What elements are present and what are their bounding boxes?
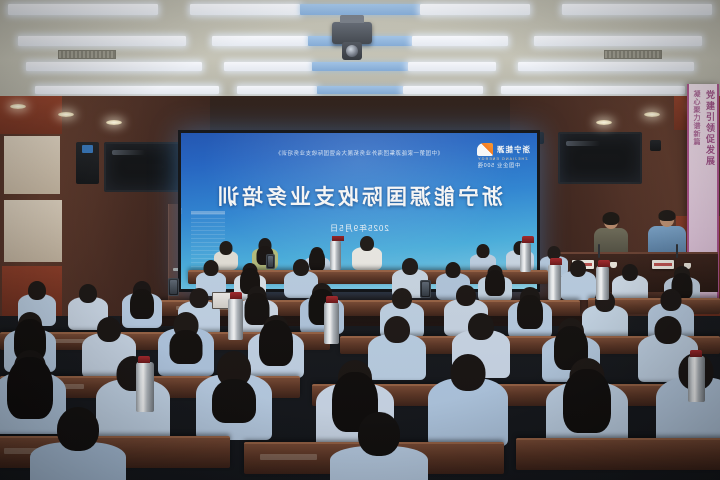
long-hair (7, 357, 53, 419)
long-hair (485, 270, 505, 296)
banner-column-1: 党建引领促发展 (704, 90, 716, 167)
head (57, 407, 99, 451)
ceiling-light-row (8, 4, 712, 15)
logo-chinese-name: 浙宁能源 (496, 144, 530, 155)
smartphone[interactable] (420, 280, 431, 298)
light-fixture (420, 4, 530, 15)
head (360, 236, 374, 251)
wall-speaker (650, 140, 661, 151)
head (622, 264, 638, 281)
logo-mark-icon (477, 143, 493, 156)
thermos-flask (330, 240, 341, 270)
head (477, 244, 490, 258)
light-fixture (408, 62, 496, 71)
wall-monitor-left (104, 142, 186, 192)
head (204, 260, 219, 276)
audience-member (428, 352, 508, 446)
ceiling-downlight (58, 112, 74, 117)
head (79, 284, 97, 303)
head (97, 317, 121, 342)
light-fixture-blue (300, 4, 420, 15)
presenter-hair (603, 212, 620, 225)
head (655, 316, 682, 344)
audience-area (0, 236, 720, 480)
presenter-hair (659, 210, 676, 221)
ceiling-light-row (26, 62, 694, 71)
slide-date: 2025年9月5日 (181, 223, 537, 234)
light-fixture (26, 62, 202, 71)
light-fixture (412, 36, 508, 46)
audience-member (196, 348, 272, 440)
light-fixture (237, 86, 317, 94)
head (451, 354, 486, 391)
light-fixture-blue (317, 86, 403, 94)
light-fixture (403, 86, 483, 94)
logo-row: 浙宁能源 (477, 143, 530, 156)
desk-label-strip (260, 454, 317, 461)
light-fixture (18, 36, 186, 46)
ceiling-downlight (10, 104, 26, 109)
head (392, 288, 412, 309)
head (384, 316, 410, 343)
light-fixture (224, 62, 312, 71)
ceiling-downlight (106, 120, 122, 125)
banner-text-rows: 党建引领促发展 凝心聚力谱新篇 (690, 90, 716, 167)
audience-member-foreground (330, 428, 428, 480)
audience-member (352, 238, 382, 270)
screen-glare (112, 150, 145, 155)
wall-speaker (76, 142, 99, 184)
head (661, 289, 682, 311)
company-logo: 浙宁能源 ZHEJIANG ENERGY 中国企业 500强 (477, 143, 530, 169)
ceiling-downlight (596, 120, 612, 125)
banner-column-2: 凝心聚力谱新篇 (690, 90, 702, 167)
light-fixture (501, 86, 685, 94)
head (293, 259, 309, 276)
light-fixture-blue (312, 62, 408, 71)
wall-panel-beige (4, 136, 60, 194)
long-hair (563, 369, 611, 433)
head (358, 412, 400, 456)
thermos-flask (136, 362, 154, 412)
head (446, 262, 461, 278)
thermos-flask (548, 264, 561, 300)
head (468, 313, 494, 340)
long-hair (517, 295, 543, 329)
long-hair (130, 289, 154, 319)
head (402, 258, 418, 275)
head (28, 281, 46, 300)
logo-english-name: ZHEJIANG ENERGY (477, 157, 527, 161)
long-hair (212, 379, 256, 423)
desk-row-front (516, 438, 720, 470)
light-fixture (35, 86, 219, 94)
wall-panel-rust (0, 96, 62, 134)
wall-monitor-right (558, 132, 642, 184)
head (570, 260, 586, 277)
head (220, 241, 233, 255)
audience-member (546, 356, 628, 450)
thermos-flask (324, 302, 339, 344)
smartphone[interactable] (266, 254, 275, 269)
thermos-flask (228, 298, 243, 340)
head (190, 288, 209, 308)
air-vent (604, 50, 662, 59)
conference-hall-photo: 党建引领促发展 凝心聚力谱新篇 《中国第一家能源集团海外业务拓展大会暨国际收支业… (0, 0, 720, 480)
light-fixture (534, 36, 702, 46)
light-fixture (212, 36, 308, 46)
head (456, 285, 476, 306)
screen-glare (566, 141, 600, 146)
light-fixture (8, 4, 158, 15)
speaker-badge (82, 145, 94, 153)
light-fixture (190, 4, 300, 15)
ceiling-light-row (35, 86, 685, 94)
ceiling-downlight (644, 112, 660, 117)
audience-member-foreground (30, 422, 126, 480)
light-fixture (562, 4, 712, 15)
thermos-flask (596, 266, 609, 300)
logo-award-text: 中国企业 500强 (477, 162, 520, 169)
thermos-flask (520, 242, 531, 272)
thermos-flask (688, 356, 705, 402)
projector-lens-icon (342, 42, 362, 60)
air-vent (58, 50, 116, 59)
light-fixture (518, 62, 694, 71)
ceiling-projector (332, 22, 372, 44)
slide-title: 浙宁能源国际收支业务培训 (181, 181, 537, 211)
smartphone[interactable] (168, 278, 179, 296)
